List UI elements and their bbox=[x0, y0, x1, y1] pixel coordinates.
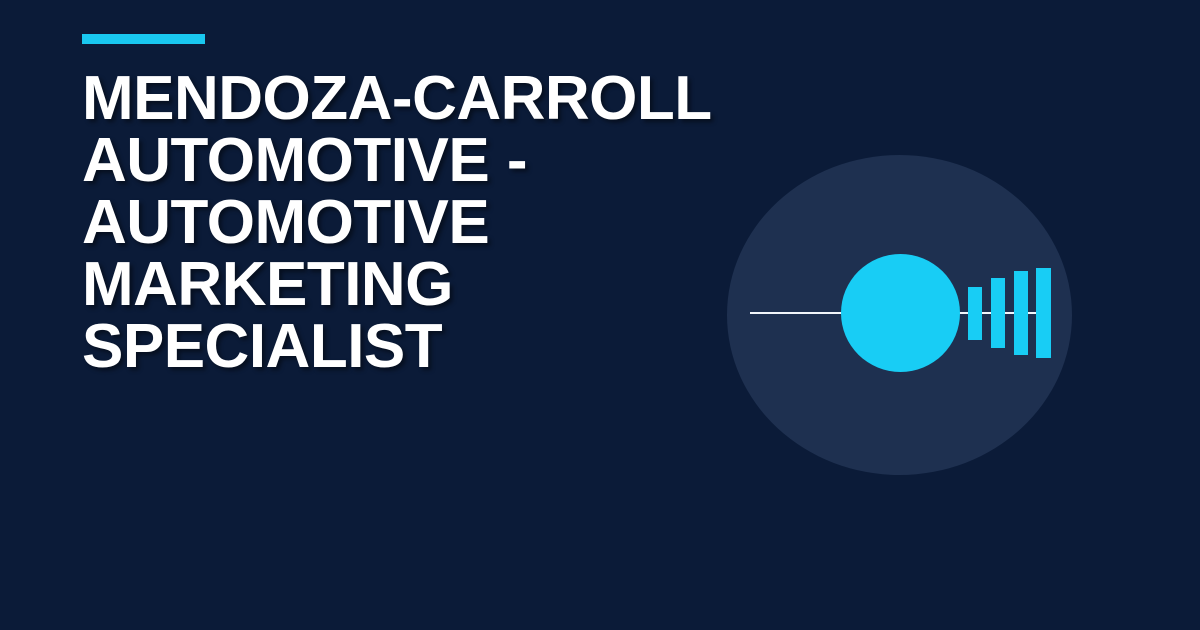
page-title-line: AUTOMOTIVE bbox=[82, 192, 742, 254]
emblem-horizontal-line bbox=[750, 312, 1050, 314]
page-title-line: AUTOMOTIVE - bbox=[82, 130, 742, 192]
emblem-bar-3 bbox=[1014, 271, 1028, 355]
emblem-bar-chart-icon bbox=[968, 155, 1050, 475]
emblem-bar-2 bbox=[991, 278, 1005, 348]
analytics-emblem bbox=[740, 155, 1060, 475]
emblem-inner-circle bbox=[841, 254, 960, 372]
page-title-line: SPECIALIST bbox=[82, 316, 742, 378]
page-title: MENDOZA-CARROLLAUTOMOTIVE -AUTOMOTIVEMAR… bbox=[82, 68, 742, 378]
headline-block: MENDOZA-CARROLLAUTOMOTIVE -AUTOMOTIVEMAR… bbox=[82, 34, 742, 378]
emblem-bar-1 bbox=[968, 287, 982, 340]
accent-bar bbox=[82, 34, 205, 44]
page-title-line: MENDOZA-CARROLL bbox=[82, 68, 742, 130]
social-card: MENDOZA-CARROLLAUTOMOTIVE -AUTOMOTIVEMAR… bbox=[0, 0, 1200, 630]
emblem-bar-4 bbox=[1036, 268, 1051, 358]
emblem-outer-circle bbox=[727, 155, 1072, 475]
page-title-line: MARKETING bbox=[82, 254, 742, 316]
